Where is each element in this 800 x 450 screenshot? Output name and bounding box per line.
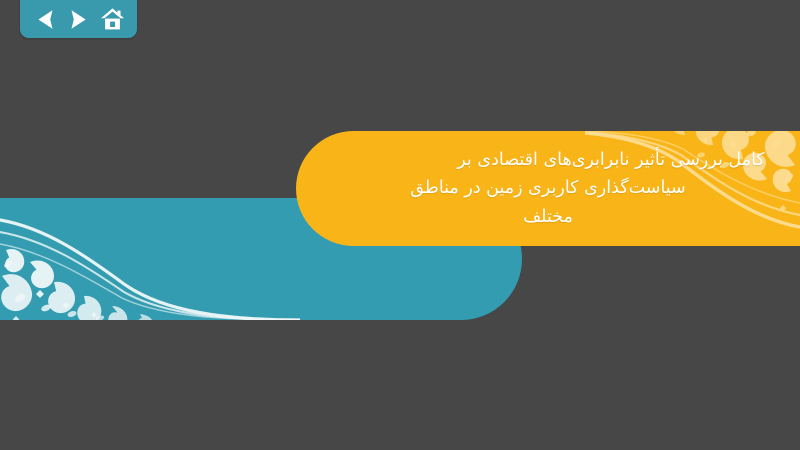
slide-title-line-1: کامل بررسی تأثیر نابرابری‌های اقتصادی بر	[457, 146, 764, 174]
previous-slide-button[interactable]	[31, 6, 59, 32]
slide-title: کامل بررسی تأثیر نابرابری‌های اقتصادی بر…	[296, 131, 800, 246]
home-button[interactable]	[98, 6, 126, 32]
slide-title-card: کامل بررسی تأثیر نابرابری‌های اقتصادی بر…	[296, 131, 800, 246]
next-slide-button[interactable]	[65, 6, 93, 32]
slide-canvas: کامل بررسی تأثیر نابرابری‌های اقتصادی بر…	[0, 0, 800, 450]
slide-title-line-2: سیاست‌گذاری کاربری زمین در مناطق	[410, 174, 685, 202]
arabesque-ornament-teal	[0, 198, 300, 320]
triangle-right-icon	[69, 9, 88, 30]
home-icon	[100, 7, 125, 31]
triangle-left-icon	[36, 9, 55, 30]
slide-navigation-bar	[20, 0, 137, 38]
slide-title-line-3: مختلف	[523, 203, 573, 231]
